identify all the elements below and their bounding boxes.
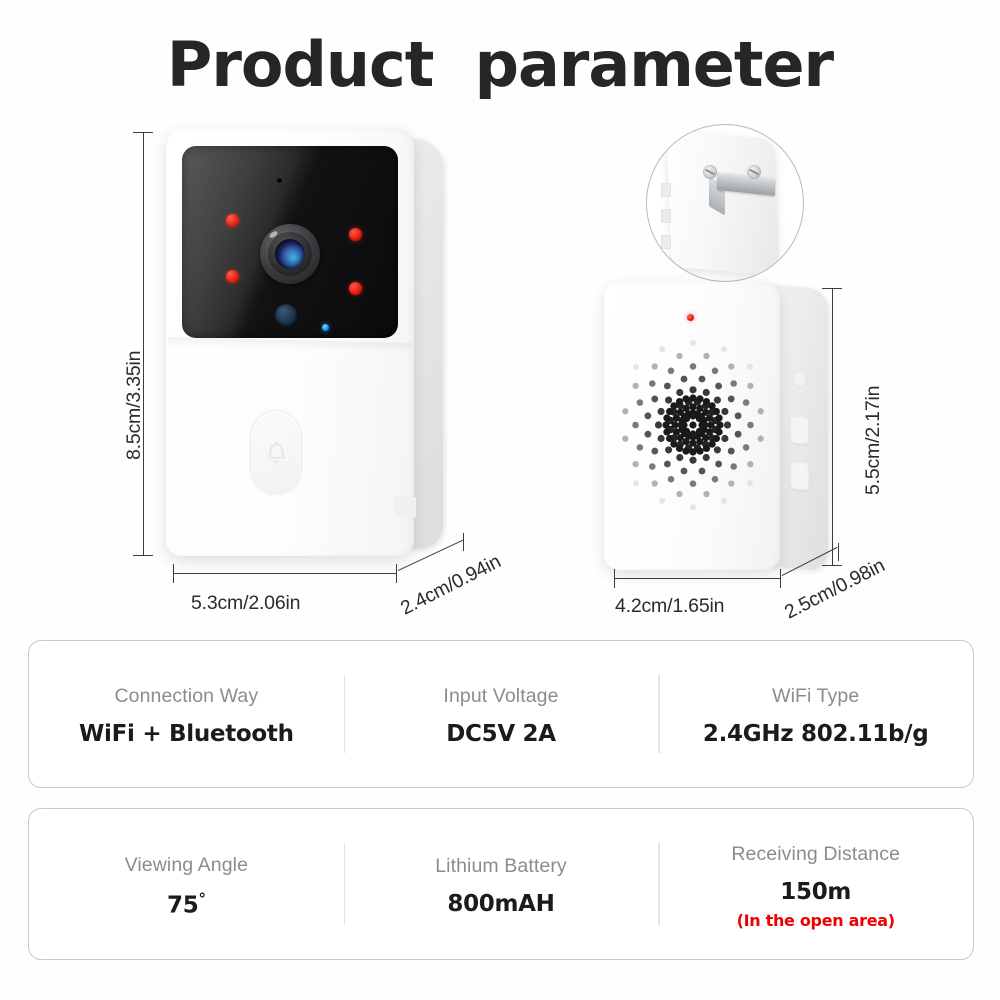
- doorbell-height-cap-top: [133, 132, 153, 133]
- status-led-blue-icon: [322, 324, 329, 331]
- ir-led-icon: [349, 228, 362, 241]
- spec-label: Input Voltage: [443, 685, 558, 708]
- degree-symbol: °: [198, 890, 205, 908]
- bell-icon: [263, 439, 290, 466]
- spec-cell-input-voltage: Input Voltage DC5V 2A: [344, 641, 659, 787]
- chime-width-line: [614, 578, 781, 579]
- doorbell-device: [166, 128, 456, 560]
- screw-icon: [703, 165, 717, 179]
- screw-icon: [747, 165, 761, 179]
- doorbell-release-notch: [394, 495, 416, 517]
- doorbell-push-button[interactable]: [250, 410, 302, 494]
- spec-cell-receiving-distance: Receiving Distance 150m (In the open are…: [658, 809, 973, 959]
- doorbell-height-cap-bottom: [133, 555, 153, 556]
- spec-cell-wifi-type: WiFi Type 2.4GHz 802.11b/g: [658, 641, 973, 787]
- doorbell-height-line: [143, 132, 144, 556]
- chime-side-tab: [661, 209, 671, 223]
- chime-height-cap-bottom: [822, 565, 842, 566]
- doorbell-width-line: [173, 573, 397, 574]
- doorbell-front-panel: [182, 146, 398, 338]
- chime-side-tab: [661, 235, 671, 249]
- chime-height-label: 5.5cm/2.17in: [862, 386, 885, 495]
- chime-front-panel: [604, 282, 780, 570]
- chime-volume-button[interactable]: [790, 415, 809, 445]
- lens-glass: [275, 239, 305, 269]
- spec-cell-lithium-battery: Lithium Battery 800mAH: [344, 809, 659, 959]
- spec-value-number: 75: [167, 892, 198, 918]
- speaker-grille-icon: [620, 334, 766, 516]
- chime-width-cap-right: [780, 569, 781, 588]
- spec-label: Viewing Angle: [125, 854, 248, 877]
- spec-value: DC5V 2A: [446, 721, 556, 747]
- spec-label: WiFi Type: [772, 685, 859, 708]
- chime-melody-button[interactable]: [790, 461, 809, 491]
- ir-led-icon: [226, 270, 239, 283]
- chime-side-tab: [661, 183, 671, 197]
- chime-status-led-icon: [687, 314, 694, 321]
- spec-cell-viewing-angle: Viewing Angle 75°: [29, 809, 344, 959]
- doorbell-width-cap-right: [396, 564, 397, 583]
- microphone-hole: [277, 178, 282, 183]
- doorbell-width-label: 5.3cm/2.06in: [191, 592, 300, 615]
- spec-label: Lithium Battery: [435, 855, 567, 878]
- lens-glint: [268, 230, 278, 239]
- spec-label: Receiving Distance: [731, 843, 900, 866]
- page-title: Product parameter: [0, 28, 1000, 101]
- spec-value: 150m: [780, 879, 851, 905]
- spec-value: 75°: [167, 890, 206, 919]
- doorbell-width-cap-left: [173, 564, 174, 583]
- doorbell-body: [166, 128, 414, 556]
- spec-card-2: Viewing Angle 75° Lithium Battery 800mAH…: [28, 808, 974, 960]
- spec-cell-connection-way: Connection Way WiFi + Bluetooth: [29, 641, 344, 787]
- light-sensor: [275, 304, 297, 326]
- doorbell-height-label: 8.5cm/3.35in: [123, 351, 146, 460]
- plug-detail-callout: [646, 124, 804, 282]
- spec-value: 2.4GHz 802.11b/g: [703, 721, 929, 747]
- spec-value: 800mAH: [447, 891, 554, 917]
- spec-row: Viewing Angle 75° Lithium Battery 800mAH…: [29, 809, 973, 959]
- chime-width-label: 4.2cm/1.65in: [615, 595, 724, 618]
- chime-depth-cap-far: [838, 543, 839, 561]
- chime-device: [604, 282, 830, 574]
- spec-value: WiFi + Bluetooth: [79, 721, 294, 747]
- lens-barrel: [268, 232, 312, 276]
- doorbell-depth-cap-far: [463, 533, 464, 551]
- doorbell-depth-label: 2.4cm/0.94in: [397, 550, 505, 620]
- spec-label: Connection Way: [114, 685, 258, 708]
- spec-row: Connection Way WiFi + Bluetooth Input Vo…: [29, 641, 973, 787]
- ir-led-icon: [349, 282, 362, 295]
- spec-note: (In the open area): [737, 911, 895, 930]
- spec-card-1: Connection Way WiFi + Bluetooth Input Vo…: [28, 640, 974, 788]
- camera-lens: [260, 224, 320, 284]
- chime-side-round-button[interactable]: [792, 369, 807, 388]
- infographic-canvas: Product parameter: [0, 0, 1000, 1000]
- doorbell-seam: [168, 337, 412, 353]
- chime-height-cap-top: [822, 288, 842, 289]
- ir-led-icon: [226, 214, 239, 227]
- chime-width-cap-left: [614, 569, 615, 588]
- chime-height-line: [832, 288, 833, 566]
